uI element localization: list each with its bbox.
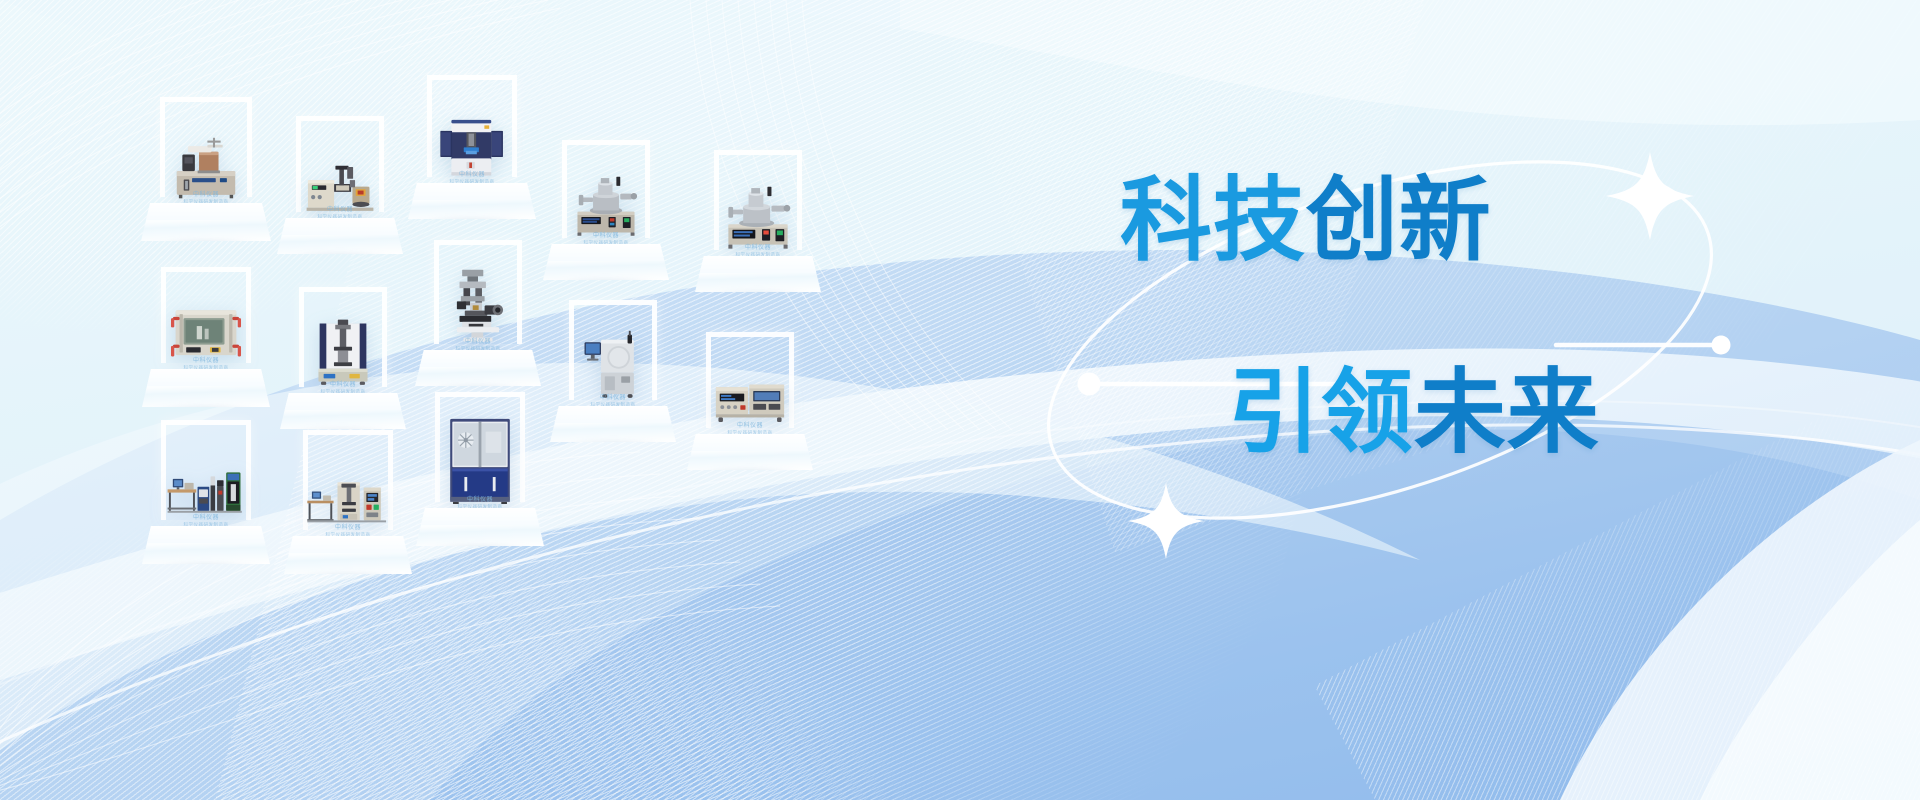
watermark-brand: 中科仪器 (465, 339, 491, 345)
product-image-environmental-chamber (445, 416, 515, 504)
watermark-brand: 中科仪器 (193, 515, 219, 521)
product-card-optical-microscope-nanoindenter[interactable]: 中科仪器科学仪器研发制造商 (410, 240, 546, 408)
product-pedestal (280, 393, 406, 429)
product-image-magnetron-sputter-coater-small (571, 168, 641, 240)
product-card-rotational-rheometer[interactable]: 中科仪器科学仪器研发制造商 (403, 75, 541, 241)
product-card-measurement-control-cabinet[interactable]: 中科仪器科学仪器研发制造商 (682, 332, 818, 492)
product-image-lab-workstation-set (165, 458, 247, 522)
product-pedestal (687, 434, 813, 470)
watermark-brand: 中科仪器 (335, 525, 361, 531)
headline-line-1: 科技创新 (1120, 175, 1680, 267)
headline-line-2-strong: 引领 (1228, 362, 1414, 464)
watermark-brand: 中科仪器 (593, 233, 619, 239)
watermark-brand: 中科仪器 (193, 358, 219, 364)
product-card-magnetron-sputter-coater-small[interactable]: 中科仪器科学仪器研发制造商 (538, 140, 674, 302)
product-pedestal (142, 369, 270, 407)
product-card-laser-processing-workstation[interactable]: 中科仪器科学仪器研发制造商 (545, 300, 681, 464)
product-pedestal (416, 508, 544, 546)
product-image-optical-microscope-nanoindenter (445, 266, 511, 346)
watermark-brand: 中科仪器 (600, 395, 626, 401)
headline-line-2: 引领未来 (1228, 367, 1680, 459)
product-pedestal (695, 256, 821, 292)
headline-block: 科技创新 引领未来 (1120, 175, 1680, 459)
product-card-high-temp-friction-wear-tester[interactable]: 中科仪器科学仪器研发制造商 (136, 97, 276, 263)
product-image-rotational-rheometer (439, 113, 505, 179)
product-pedestal (550, 406, 676, 442)
product-image-laser-processing-workstation (582, 328, 644, 402)
product-pedestal (284, 536, 412, 574)
product-image-universal-testing-machine (312, 311, 374, 389)
watermark-brand: 中科仪器 (737, 423, 763, 429)
product-pedestal (142, 526, 270, 564)
product-image-high-temp-friction-wear-tester (169, 135, 243, 199)
watermark-brand: 中科仪器 (459, 172, 485, 178)
product-image-vacuum-coating-system (723, 178, 793, 252)
headline-line-1-strong: 科技 (1120, 170, 1306, 272)
headline-line-2-soft: 未来 (1414, 362, 1600, 464)
watermark-brand: 中科仪器 (745, 245, 771, 251)
product-pedestal (277, 218, 403, 254)
product-card-lab-workstation-set[interactable]: 中科仪器科学仪器研发制造商 (138, 420, 274, 586)
product-card-environmental-chamber[interactable]: 中科仪器科学仪器研发制造商 (412, 392, 548, 568)
product-image-vacuum-glove-box (169, 303, 243, 365)
watermark-brand: 中科仪器 (467, 497, 493, 503)
product-pedestal (415, 350, 541, 386)
headline-line-1-soft: 创新 (1306, 170, 1492, 272)
watermark-brand: 中科仪器 (327, 207, 353, 213)
product-pedestal (543, 244, 669, 280)
watermark-brand: 中科仪器 (193, 192, 219, 198)
product-card-universal-testing-machine[interactable]: 中科仪器科学仪器研发制造商 (275, 287, 411, 451)
hero-banner: 中科仪器科学仪器研发制造商 中科仪器科学仪器研发制造商 (0, 0, 1920, 800)
product-pedestal (408, 183, 536, 219)
product-card-micro-indentation-tester[interactable]: 中科仪器科学仪器研发制造商 (272, 116, 408, 276)
product-card-bench-tensile-tester-set[interactable]: 中科仪器科学仪器研发制造商 (280, 430, 416, 596)
product-pedestal (141, 203, 271, 241)
product-image-bench-tensile-tester-set (306, 472, 390, 532)
product-card-vacuum-coating-system[interactable]: 中科仪器科学仪器研发制造商 (690, 150, 826, 314)
product-card-vacuum-glove-box[interactable]: 中科仪器科学仪器研发制造商 (138, 267, 274, 429)
watermark-brand: 中科仪器 (330, 382, 356, 388)
